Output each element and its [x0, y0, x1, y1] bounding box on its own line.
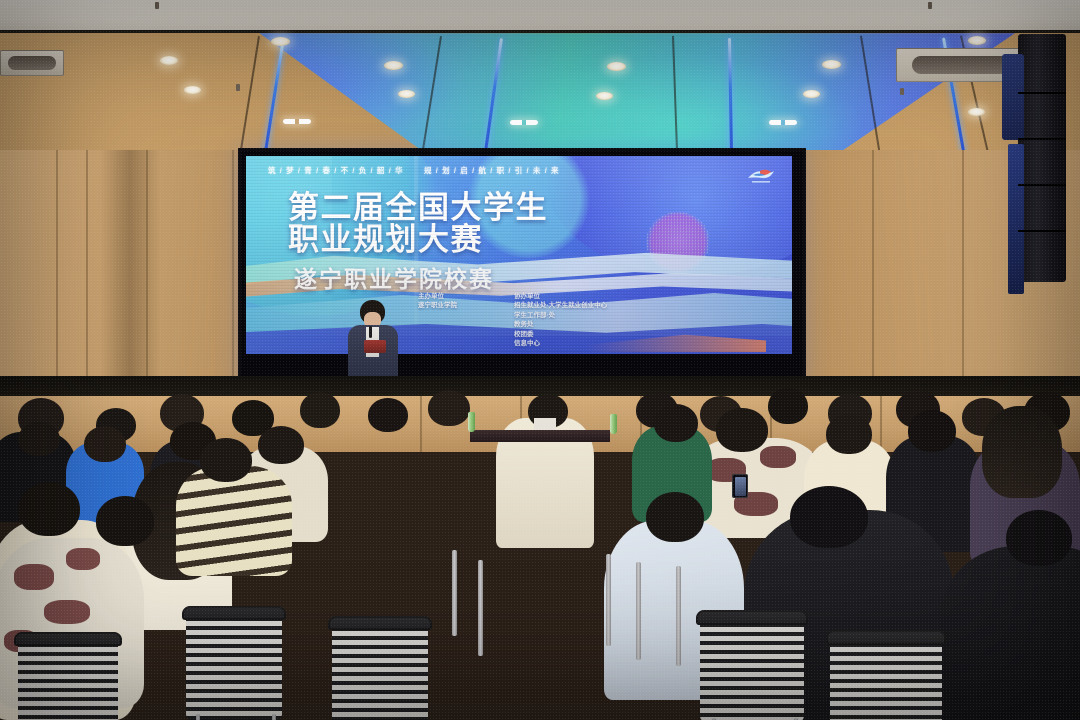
recessed-downlight — [184, 86, 201, 94]
speaker-seam — [1018, 92, 1066, 94]
audience-head — [18, 422, 60, 456]
recessed-downlight — [803, 90, 820, 98]
recessed-downlight — [607, 62, 626, 71]
chair-top-rail — [328, 616, 432, 630]
speaker-seam — [1018, 230, 1066, 232]
recessed-downlight — [968, 36, 986, 45]
recessed-downlight — [160, 56, 178, 65]
recessed-downlight — [384, 61, 403, 70]
audience-long-hair — [982, 406, 1062, 498]
audience-black-coat — [940, 546, 1080, 720]
sprinkler-head — [236, 84, 240, 91]
presenter — [342, 300, 404, 380]
led-stage-screen[interactable]: 筑 / 梦 / 青 / 春 / 不 / 负 / 韶 / 华 规 / 划 / 启 … — [246, 156, 792, 354]
audience-head — [826, 414, 872, 454]
screen-title-line1: 第二届全国大学生 — [288, 192, 668, 224]
ceiling — [0, 0, 1080, 150]
judges-table — [470, 430, 610, 442]
speaker-seam — [1018, 138, 1066, 140]
auditorium-chair[interactable] — [700, 618, 804, 720]
presenter-folder — [364, 340, 386, 353]
recessed-downlight — [968, 108, 985, 116]
audience-head — [716, 408, 768, 452]
recessed-downlight — [398, 90, 415, 98]
chair-leg — [478, 560, 483, 656]
audience-collar — [534, 418, 556, 430]
screen-title: 第二届全国大学生 职业规划大赛 — [288, 192, 668, 256]
line-array-speaker — [1018, 34, 1066, 282]
host-name: 遂宁职业学院 — [418, 301, 457, 310]
audience-head — [200, 438, 252, 482]
sprinkler-head — [155, 2, 159, 9]
audience-striped-jacket — [176, 466, 292, 576]
chair-top-rail — [826, 630, 946, 645]
coorganizer-4: 信息中心 — [514, 339, 607, 348]
twin-ceiling-light — [510, 120, 538, 125]
audience-head — [646, 492, 704, 542]
twin-ceiling-light — [769, 120, 797, 125]
chair-top-rail — [14, 632, 122, 646]
screen-tagline-left: 筑 / 梦 / 青 / 春 / 不 / 负 / 韶 / 华 — [268, 165, 404, 176]
chair-leg — [452, 550, 457, 636]
audience-head — [428, 390, 470, 426]
coorganizer-2: 教务处 — [514, 320, 607, 329]
coorganizer-0: 招生就业处·大学生就业创业中心 — [514, 301, 607, 310]
chair-leg — [196, 714, 200, 720]
ceiling-air-vent — [0, 50, 64, 76]
chair-leg — [676, 566, 681, 666]
water-bottle — [468, 412, 475, 432]
recessed-downlight — [822, 60, 841, 69]
coorganizer-3: 校团委 — [514, 330, 607, 339]
recessed-downlight — [596, 92, 613, 100]
speaker-rigging — [1008, 144, 1024, 294]
smartphone[interactable] — [732, 474, 748, 498]
host-label: 主办单位 — [418, 292, 457, 301]
screen-subtitle: 遂宁职业学院校赛 — [294, 260, 494, 294]
chair-top-rail — [182, 606, 286, 620]
recessed-downlight — [271, 37, 290, 46]
auditorium-chair[interactable] — [186, 612, 282, 720]
sprinkler-head — [900, 88, 904, 95]
chair-leg — [636, 562, 641, 660]
twin-ceiling-light — [283, 119, 311, 124]
audience-head — [654, 404, 698, 442]
screen-tagline-right: 规 / 划 / 启 / 航 / 职 / 引 / 未 / 来 — [424, 165, 560, 176]
coorganizer-1: 学生工作部·处 — [514, 311, 607, 320]
audience-head — [18, 482, 80, 536]
audience-head — [368, 398, 408, 432]
audience-head — [1006, 510, 1072, 566]
speaker-side-panel — [1002, 54, 1024, 140]
microphone — [369, 326, 372, 338]
audience-head — [84, 426, 126, 462]
audience-head — [908, 410, 956, 452]
auditorium-chair[interactable] — [830, 638, 942, 720]
chair-leg — [272, 714, 276, 720]
coorganizer-block: 协办单位 招生就业处·大学生就业创业中心 学生工作部·处 教务处 校团委 信息中… — [514, 292, 607, 349]
auditorium-photo: 筑 / 梦 / 青 / 春 / 不 / 负 / 韶 / 华 规 / 划 / 启 … — [0, 0, 1080, 720]
screen-title-line2: 职业规划大赛 — [288, 224, 668, 256]
water-bottle — [610, 414, 617, 434]
audience-head — [768, 388, 808, 424]
host-block: 主办单位 遂宁职业学院 — [418, 292, 457, 311]
auditorium-chair[interactable] — [18, 638, 118, 720]
competition-emblem — [744, 166, 778, 188]
speaker-seam — [1018, 184, 1066, 186]
audience-head — [300, 392, 340, 428]
audience-head — [790, 486, 868, 548]
audience-head — [96, 496, 154, 546]
chair-top-rail — [696, 610, 808, 625]
ceiling-upper-soffit — [0, 0, 1080, 34]
coorganizer-label: 协办单位 — [514, 292, 607, 301]
chair-leg — [606, 554, 611, 646]
auditorium-chair[interactable] — [332, 622, 428, 720]
sprinkler-head — [928, 2, 932, 9]
audience-head — [258, 426, 304, 464]
audience-area — [0, 370, 1080, 720]
